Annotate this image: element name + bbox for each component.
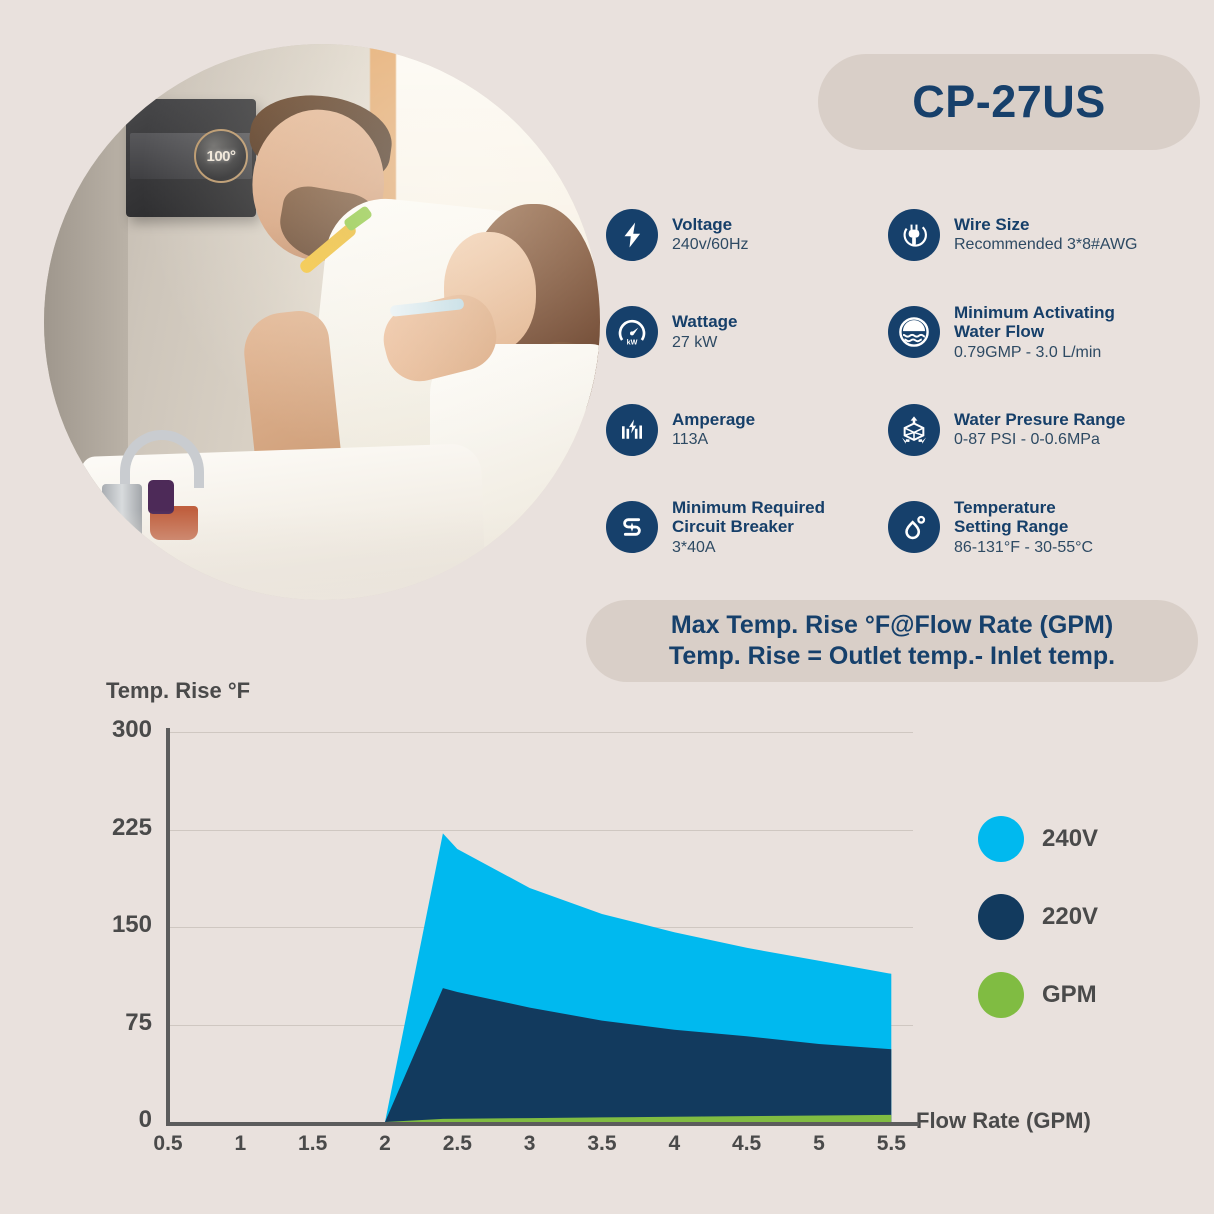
chart-x-tick-label: 1.5 [298,1132,327,1156]
chart-y-tick-label: 0 [0,1106,152,1134]
spec-water-pressure-value: 0-87 PSI - 0-0.6MPa [954,431,1125,449]
spec-wattage-value: 27 kW [672,334,738,352]
chart-x-tick-label: 5 [813,1132,825,1156]
heater-display-value: 100° [206,148,235,165]
spec-temperature-range-text: Temperature Setting Range 86-131°F - 30-… [954,498,1093,557]
spec-circuit-breaker-text: Minimum Required Circuit Breaker 3*40A [672,498,825,557]
spec-wire-size-value: Recommended 3*8#AWG [954,236,1138,254]
chart-y-axis-line [166,728,170,1126]
spec-min-water-flow-value: 0.79GMP - 3.0 L/min [954,344,1115,362]
legend-item-240v[interactable]: 240V [978,816,1098,862]
spec-voltage-title: Voltage [672,215,749,234]
chart-title-line-1: Max Temp. Rise °F@Flow Rate (GPM) [671,610,1113,642]
chart-x-tick-label: 2 [379,1132,391,1156]
plug-icon [888,209,940,261]
spec-temperature-range-title-1: Temperature [954,498,1093,517]
legend-swatch-220v [978,894,1024,940]
legend-item-220v[interactable]: 220V [978,894,1098,940]
model-name-badge: CP-27US [818,54,1200,150]
product-lifestyle-photo: 100° [44,44,600,600]
chart-x-axis-line [166,1122,919,1126]
chart-y-tick-label: 225 [0,814,152,842]
spec-wire-size-title: Wire Size [954,215,1138,234]
chart-title-line-2: Temp. Rise = Outlet temp.- Inlet temp. [669,641,1115,673]
spec-amperage-title: Amperage [672,410,755,429]
circuit-breaker-icon [606,501,658,553]
spec-min-water-flow-text: Minimum Activating Water Flow 0.79GMP - … [954,303,1115,362]
spec-min-water-flow: Minimum Activating Water Flow 0.79GMP - … [888,284,1206,382]
spec-temperature-range-title-2: Setting Range [954,517,1093,536]
amperage-bars-icon [606,404,658,456]
spec-circuit-breaker-value: 3*40A [672,539,825,557]
spec-min-water-flow-title-2: Water Flow [954,322,1115,341]
gauge-kw-icon: kW [606,306,658,358]
legend-label-gpm: GPM [1042,981,1097,1009]
model-name-text: CP-27US [912,76,1106,128]
water-waves-icon [888,306,940,358]
spec-water-pressure-title: Water Presure Range [954,410,1125,429]
chart-y-tick-label: 300 [0,716,152,744]
spec-temperature-range: Temperature Setting Range 86-131°F - 30-… [888,479,1206,577]
water-drop-temp-icon [888,501,940,553]
spec-wattage-text: Wattage 27 kW [672,312,738,352]
chart-x-tick-label: 0.5 [153,1132,182,1156]
tankless-water-heater-unit: 100° [126,99,256,217]
chart-x-axis-label: Flow Rate (GPM) [916,1108,1091,1134]
legend-swatch-240v [978,816,1024,862]
pressure-cube-icon [888,404,940,456]
heater-display-dial: 100° [194,129,248,183]
spec-wattage-title: Wattage [672,312,738,331]
legend-item-gpm[interactable]: GPM [978,972,1098,1018]
spec-amperage: Amperage 113A [606,381,888,479]
lightning-bolt-icon [606,209,658,261]
spec-voltage-value: 240v/60Hz [672,236,749,254]
legend-swatch-gpm [978,972,1024,1018]
temp-rise-chart: Temp. Rise °F Flow Rate (GPM) 0751502253… [0,676,1214,1214]
chart-x-tick-label: 3 [524,1132,536,1156]
photo-bottle-purple [148,480,174,514]
spec-amperage-value: 113A [672,431,755,449]
legend-label-240v: 240V [1042,825,1098,853]
spec-wattage: kW Wattage 27 kW [606,284,888,382]
infographic-page: 100° CP-27US [0,0,1214,1214]
spec-wire-size-text: Wire Size Recommended 3*8#AWG [954,215,1138,255]
svg-text:kW: kW [627,338,638,347]
spec-water-pressure-text: Water Presure Range 0-87 PSI - 0-0.6MPa [954,410,1125,450]
chart-y-axis-label: Temp. Rise °F [106,678,250,704]
chart-x-tick-label: 2.5 [443,1132,472,1156]
chart-x-tick-label: 4 [668,1132,680,1156]
spec-circuit-breaker-title-1: Minimum Required [672,498,825,517]
spec-wire-size: Wire Size Recommended 3*8#AWG [888,186,1206,284]
spec-temperature-range-value: 86-131°F - 30-55°C [954,539,1093,557]
spec-water-pressure: Water Presure Range 0-87 PSI - 0-0.6MPa [888,381,1206,479]
chart-y-tick-label: 75 [0,1009,152,1037]
photo-bottom-fade [44,510,600,600]
chart-x-tick-label: 5.5 [877,1132,906,1156]
chart-legend: 240V 220V GPM [978,816,1098,1050]
spec-voltage: Voltage 240v/60Hz [606,186,888,284]
chart-plot-area [168,732,920,1124]
chart-x-tick-label: 1 [234,1132,246,1156]
spec-amperage-text: Amperage 113A [672,410,755,450]
chart-y-tick-label: 150 [0,911,152,939]
spec-circuit-breaker: Minimum Required Circuit Breaker 3*40A [606,479,888,577]
legend-label-220v: 220V [1042,903,1098,931]
spec-circuit-breaker-title-2: Circuit Breaker [672,517,825,536]
chart-title-banner: Max Temp. Rise °F@Flow Rate (GPM) Temp. … [586,600,1198,682]
chart-x-tick-label: 4.5 [732,1132,761,1156]
spec-min-water-flow-title-1: Minimum Activating [954,303,1115,322]
specifications-grid: Voltage 240v/60Hz Wire Size Recommended … [606,186,1206,576]
spec-voltage-text: Voltage 240v/60Hz [672,215,749,255]
chart-x-tick-label: 3.5 [587,1132,616,1156]
